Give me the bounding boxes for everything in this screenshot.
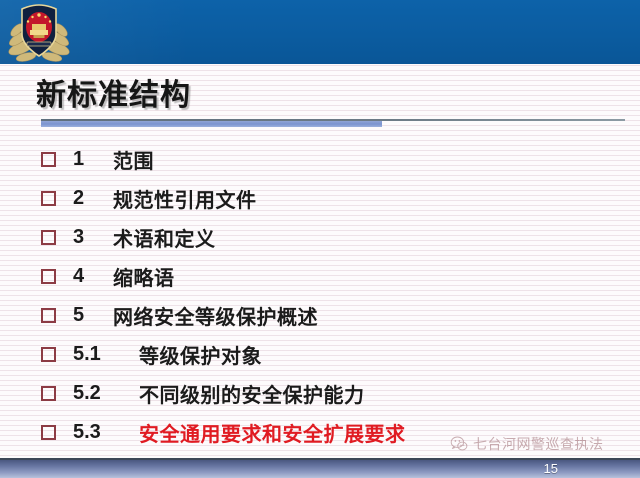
bullet-square-icon (41, 191, 56, 206)
bullet-square-icon (41, 425, 56, 440)
list-item-number: 4 (73, 265, 91, 288)
list-item-label: 缩略语 (113, 262, 175, 291)
list-item-number: 5.2 (73, 382, 117, 405)
list-item: 5.1 等级保护对象 (0, 335, 640, 374)
list-item-label: 安全通用要求和安全扩展要求 (139, 418, 406, 447)
list-item-label: 等级保护对象 (139, 340, 262, 369)
list-item-label: 范围 (113, 145, 154, 174)
list-item-number: 2 (73, 187, 91, 210)
title-divider-accent (41, 121, 382, 127)
list-item-label: 不同级别的安全保护能力 (139, 379, 365, 408)
list-item-label: 术语和定义 (113, 223, 216, 252)
watermark: 七台河网警巡查执法 (450, 434, 604, 454)
header-sheen (0, 0, 640, 64)
slide: 新标准结构 1 范围 2 规范性引用文件 3 术语和定义 4 缩略语 5 (0, 0, 640, 478)
list-item-label: 规范性引用文件 (113, 184, 257, 213)
list-item: 5.2 不同级别的安全保护能力 (0, 374, 640, 413)
bullet-square-icon (41, 230, 56, 245)
bullet-square-icon (41, 152, 56, 167)
list-item-number: 5.3 (73, 421, 117, 444)
outline-list: 1 范围 2 规范性引用文件 3 术语和定义 4 缩略语 5 网络安全等级保护概… (0, 140, 640, 452)
watermark-label: 七台河网警巡查执法 (473, 434, 604, 454)
list-item: 2 规范性引用文件 (0, 179, 640, 218)
list-item-number: 1 (73, 148, 91, 171)
bullet-square-icon (41, 308, 56, 323)
bullet-square-icon (41, 347, 56, 362)
list-item: 5 网络安全等级保护概述 (0, 296, 640, 335)
list-item-label: 网络安全等级保护概述 (113, 301, 318, 330)
header-bar (0, 0, 640, 64)
bullet-square-icon (41, 386, 56, 401)
list-item-number: 5 (73, 304, 91, 327)
list-item: 3 术语和定义 (0, 218, 640, 257)
page-title: 新标准结构 (36, 70, 191, 114)
china-police-badge-icon (8, 1, 70, 67)
title-zone: 新标准结构 (0, 64, 640, 130)
list-item: 4 缩略语 (0, 257, 640, 296)
bullet-square-icon (41, 269, 56, 284)
page-number: 15 (544, 461, 558, 476)
list-item-number: 5.1 (73, 343, 117, 366)
wechat-icon (450, 435, 468, 453)
list-item: 1 范围 (0, 140, 640, 179)
list-item-number: 3 (73, 226, 91, 249)
